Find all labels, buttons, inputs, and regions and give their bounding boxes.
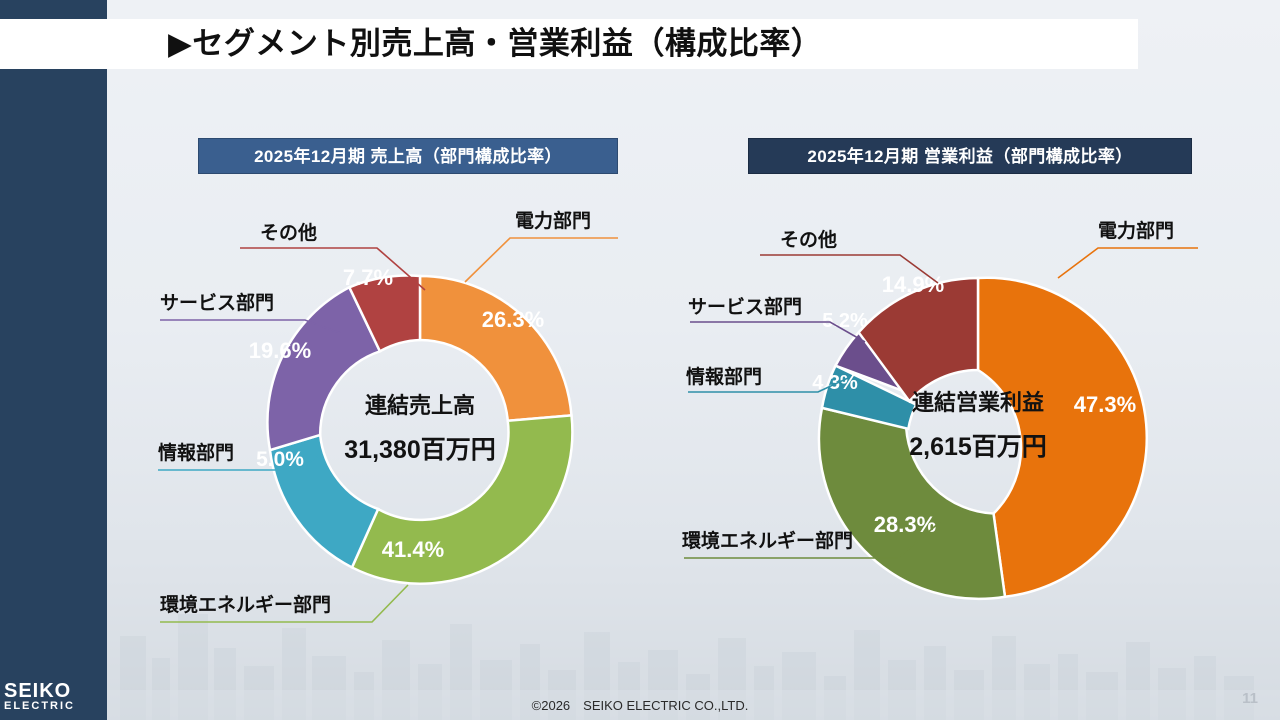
sales-pct-environment-energy: 41.4% [358, 537, 468, 563]
sales-label-environment-energy: 環境エネルギー部門 [160, 590, 331, 617]
slide-canvas: ▶セグメント別売上高・営業利益（構成比率） 2025年12月期 売上高（部門構成… [0, 0, 1280, 720]
sales-chart-header: 2025年12月期 売上高（部門構成比率） [198, 138, 618, 174]
operating-profit-label-power: 電力部門 [1098, 216, 1174, 243]
page-number: 11 [1242, 690, 1258, 707]
operating-profit-chart-header: 2025年12月期 営業利益（部門構成比率） [748, 138, 1192, 174]
operating-profit-label-service: サービス部門 [688, 292, 802, 319]
footer-copyright: ©2026 SEIKO ELECTRIC CO.,LTD. [0, 695, 1280, 714]
sales-pct-service: 19.6% [225, 338, 335, 364]
sales-pct-information: 5.0% [235, 448, 325, 472]
operating-profit-pct-other: 14.9% [858, 272, 968, 298]
sales-label-information: 情報部門 [158, 438, 234, 465]
operating-profit-label-other: その他 [780, 225, 837, 252]
sales-pct-other: 7.7% [318, 265, 418, 291]
operating-profit-pct-service: 5.2% [800, 310, 890, 333]
operating-profit-center-value: 2,615百万円 [838, 427, 1118, 463]
sales-label-service: サービス部門 [160, 288, 274, 315]
sales-center-label: 連結売上高 [290, 388, 550, 420]
operating-profit-label-information: 情報部門 [686, 362, 762, 389]
operating-profit-pct-information: 4.3% [790, 372, 880, 395]
sales-label-power: 電力部門 [515, 206, 591, 233]
operating-profit-pct-environment-energy: 28.3% [850, 512, 960, 538]
operating-profit-label-environment-energy: 環境エネルギー部門 [682, 526, 853, 553]
left-accent-bar [0, 0, 107, 720]
page-title: ▶セグメント別売上高・営業利益（構成比率） [168, 22, 1128, 66]
operating-profit-pct-power: 47.3% [1050, 392, 1160, 418]
sales-label-other: その他 [260, 218, 317, 245]
sales-pct-power: 26.3% [458, 307, 568, 333]
